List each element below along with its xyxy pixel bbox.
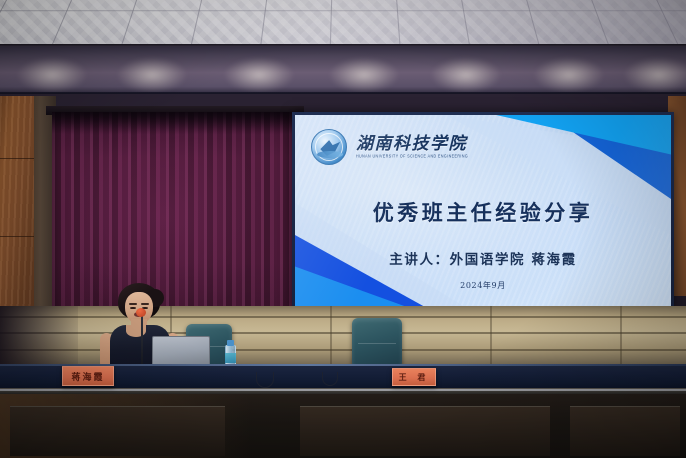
university-logo: 湖南科技学院 HUNAN UNIVERSITY OF SCIENCE AND E… <box>311 129 468 165</box>
eyebrow <box>129 303 137 305</box>
ceiling-light-glow <box>225 58 293 92</box>
ceiling-light-glow <box>432 58 500 92</box>
university-name-cn: 湖南科技学院 <box>356 136 468 153</box>
collar <box>126 325 146 337</box>
name-placard-text: 王 君 <box>399 372 430 383</box>
chair-seam <box>358 343 396 344</box>
ceiling-light-glow <box>535 58 603 92</box>
ceiling-light-glow <box>118 58 186 92</box>
eye <box>130 307 136 309</box>
presentation-slide: 湖南科技学院 HUNAN UNIVERSITY OF SCIENCE AND E… <box>295 115 671 307</box>
name-placard: 王 君 <box>392 368 436 386</box>
water-bottle-label <box>225 353 236 363</box>
wood-seam <box>0 158 34 159</box>
slide-date: 2024年9月 <box>295 280 671 291</box>
valance-top-edge <box>0 44 686 47</box>
table-front-panel <box>300 406 550 456</box>
lecture-hall-photo: 湖南科技学院 HUNAN UNIVERSITY OF SCIENCE AND E… <box>0 0 686 458</box>
water-bottle-cap <box>227 340 234 346</box>
upper-wall-valance <box>0 44 686 96</box>
university-name-block: 湖南科技学院 HUNAN UNIVERSITY OF SCIENCE AND E… <box>356 136 468 159</box>
table-front-panel <box>10 406 225 456</box>
wood-seam <box>0 236 34 237</box>
ceiling <box>0 0 686 48</box>
name-placard: 蒋海霞 <box>62 366 114 386</box>
wall-panel-seam <box>620 306 622 366</box>
ceiling-light-glow <box>625 58 686 92</box>
wall-panel-seam <box>490 306 492 366</box>
microphone-head <box>136 308 146 317</box>
crest-wave-glyph <box>317 151 343 158</box>
projection-screen: 湖南科技学院 HUNAN UNIVERSITY OF SCIENCE AND E… <box>292 112 674 310</box>
name-placard-text: 蒋海霞 <box>71 370 104 383</box>
university-name-en: HUNAN UNIVERSITY OF SCIENCE AND ENGINEER… <box>356 155 468 159</box>
ceiling-light-glow <box>18 58 86 92</box>
slide-subtitle: 主讲人：外国语学院 蒋海霞 <box>295 248 671 268</box>
ceiling-light-glow <box>330 58 398 92</box>
microphone-stand <box>141 314 143 366</box>
table-front-panel <box>570 406 680 456</box>
slide-title: 优秀班主任经验分享 <box>295 197 671 227</box>
table-edge-shine <box>0 389 686 391</box>
eyebrow <box>141 303 149 305</box>
laptop-screen <box>152 336 210 365</box>
wall-shadow-left <box>0 306 78 366</box>
wall-panel-seam <box>330 306 332 366</box>
conference-chair <box>352 318 402 366</box>
curtain-top-shadow <box>52 112 300 134</box>
ceiling-shading <box>0 0 686 48</box>
university-crest-icon <box>311 129 347 165</box>
head-table-front <box>0 394 686 458</box>
